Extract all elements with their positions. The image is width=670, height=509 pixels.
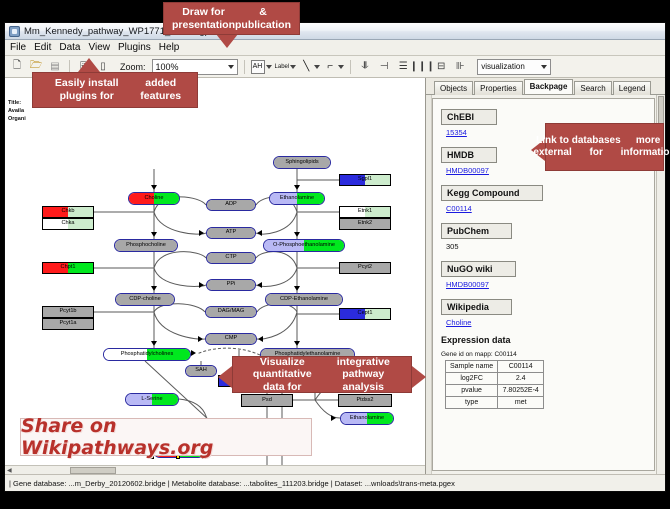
status-bar: | Gene database: ...m_Derby_20120602.bri… [5, 474, 665, 491]
pathway-node-ptdss2[interactable]: Ptdss2 [338, 394, 392, 407]
pathway-node-dag_mag[interactable]: DAG/MAG [205, 306, 257, 318]
line-tool[interactable]: ╲ [299, 60, 320, 74]
arrowhead-down [151, 341, 157, 346]
side-panel-tabs: Objects Properties Backpage Search Legen… [426, 78, 665, 95]
callout-visualize-pointer-right [412, 366, 426, 388]
pathway-node-sgpl1[interactable]: Sgpl1 [339, 174, 391, 186]
node-label: SAH [195, 368, 207, 374]
node-label: ATP [226, 230, 236, 236]
pathway-node-chka[interactable]: Chka [42, 218, 94, 230]
node-label: CTP [225, 255, 236, 261]
table-row: type met [446, 397, 544, 409]
node-label: ADP [225, 202, 237, 208]
expression-data-table: Sample name C00114 log2FC 2.4 pvalue 7.8… [445, 360, 544, 409]
node-label: Pcyt1a [59, 321, 76, 327]
tab-properties[interactable]: Properties [474, 81, 522, 95]
db-heading-hmdb: HMDB [441, 147, 497, 163]
new-file-icon[interactable]: 🗋 [9, 59, 25, 75]
pathway-node-chpt1[interactable]: Chpt1 [42, 262, 94, 274]
chevron-down-icon [314, 65, 320, 69]
visualization-combobox[interactable]: visualization [477, 59, 551, 75]
status-text: | Gene database: ...m_Derby_20120602.bri… [9, 479, 455, 488]
arrowhead-down [294, 185, 300, 190]
pathway-node-ppi[interactable]: PPi [206, 279, 256, 291]
label-icon: Label [275, 60, 290, 74]
canvas-horizontal-scrollbar[interactable]: ◀ [5, 465, 425, 474]
pathway-node-cdp_ethanolamine[interactable]: CDP-Ethanolamine [265, 293, 343, 306]
scrollbar-thumb[interactable] [70, 467, 116, 474]
callout-share: Share on Wikipathways.org [20, 418, 312, 456]
arrowhead-down [294, 341, 300, 346]
cell-key: pvalue [446, 385, 498, 397]
callout-plugins-pointer [78, 58, 100, 72]
connector-tool[interactable]: ⌐ [323, 60, 344, 74]
node-label: PPi [227, 282, 236, 288]
toolbar-separator [350, 60, 351, 74]
pathway-node-phosphocholine[interactable]: Phosphocholine [114, 239, 178, 252]
callout-visualize: Visualize quantitative data forintegrati… [232, 356, 412, 393]
pathway-node-l_serine_left[interactable]: L-Serine [125, 393, 179, 406]
cell-value: 7.80252E-4 [498, 385, 544, 397]
visualization-value: visualization [481, 62, 525, 71]
arrowhead-left [257, 230, 262, 236]
line-icon: ╲ [299, 60, 313, 74]
node-label: Phosphatidylcholines [121, 352, 174, 358]
tab-legend[interactable]: Legend [613, 81, 652, 95]
pathway-node-atp[interactable]: ATP [206, 227, 256, 239]
scroll-left-icon[interactable]: ◀ [5, 467, 14, 474]
cell-value: met [498, 397, 544, 409]
db-heading-kegg: Kegg Compound [441, 185, 543, 201]
chevron-down-icon [290, 65, 296, 69]
db-heading-wikipedia: Wikipedia [441, 299, 512, 315]
pathway-node-chkb[interactable]: Chkb [42, 206, 94, 218]
pathway-node-pcyt2[interactable]: Pcyt2 [339, 262, 391, 274]
db-heading-pubchem: PubChem [441, 223, 512, 239]
cell-key: log2FC [446, 373, 498, 385]
distribute-horizontal-icon[interactable]: ❙❙❙ [414, 59, 430, 75]
node-label: Ethanolamine [280, 196, 314, 202]
zoom-label: Zoom: [120, 62, 146, 72]
screenshot-root: Mm_Kennedy_pathway_WP1771_45176.gpml Fil… [0, 0, 670, 509]
node-label: L-Serine [141, 397, 162, 403]
arrowhead-down [151, 286, 157, 291]
db-link-nugo[interactable]: HMDB00097 [446, 280, 654, 289]
cell-value: 2.4 [498, 373, 544, 385]
pathway-node-ctp[interactable]: CTP [206, 252, 256, 264]
table-row: pvalue 7.80252E-4 [446, 385, 544, 397]
arrowhead-right [191, 350, 196, 356]
node-label: Ethanolamine [350, 416, 384, 422]
tab-search[interactable]: Search [574, 81, 611, 95]
pathway-node-cept1[interactable]: Cept1 [339, 308, 391, 320]
menu-item-file[interactable]: File [10, 42, 32, 53]
pathway-node-etnk2[interactable]: Etnk2 [339, 218, 391, 230]
chevron-down-icon [541, 65, 547, 69]
db-link-wikipedia[interactable]: Choline [446, 318, 654, 327]
arrowhead-left [257, 282, 262, 288]
arrowhead-down [294, 232, 300, 237]
pathway-node-cmp[interactable]: CMP [205, 333, 257, 345]
node-label: Choline [145, 196, 164, 202]
node-label: Cept1 [358, 311, 373, 317]
pathway-node-phosphatidylcholines[interactable]: Phosphatidylcholines [103, 348, 191, 361]
node-label: DAG/MAG [218, 309, 244, 315]
arrowhead-down [151, 185, 157, 190]
db-value-pubchem: 305 [446, 242, 654, 251]
pathway-node-ethanolamine_top[interactable]: Ethanolamine [269, 192, 325, 205]
table-row: log2FC 2.4 [446, 373, 544, 385]
group-icon[interactable]: ⊟ [433, 59, 449, 75]
node-label: Chka [61, 221, 74, 227]
title-bar: Mm_Kennedy_pathway_WP1771_45176.gpml [5, 23, 665, 40]
arrowhead-right [198, 336, 203, 342]
cell-key: type [446, 397, 498, 409]
pathway-node-sphingolipids[interactable]: Sphingolipids [273, 156, 331, 169]
node-label: Chkb [61, 209, 74, 215]
pathway-node-sah[interactable]: SAH [185, 365, 217, 377]
pathway-node-etnk1[interactable]: Etnk1 [339, 206, 391, 218]
ungroup-icon[interactable]: ⊪ [452, 59, 468, 75]
pathway-node-pcyt1b[interactable]: Pcyt1b [42, 306, 94, 318]
node-label: Ptdss2 [356, 398, 373, 404]
tab-objects[interactable]: Objects [434, 81, 473, 95]
arrowhead-down [151, 232, 157, 237]
node-label: Sgpl1 [358, 177, 372, 183]
pathway-node-adp[interactable]: ADP [206, 199, 256, 211]
chevron-down-icon [266, 65, 272, 69]
node-label: CDP-choline [129, 297, 160, 303]
pathway-node-o_phosphoethanolamine[interactable]: O-Phosphoethanolamine [263, 239, 345, 252]
callout-draw: Draw for presentation& publication [163, 2, 300, 35]
expression-data-heading: Expression data [441, 335, 654, 345]
node-label: CDP-Ethanolamine [280, 297, 328, 303]
callout-visualize-pointer [218, 366, 232, 388]
node-label: CMP [225, 336, 237, 342]
node-label: Phosphocholine [126, 243, 166, 249]
menu-bar: File Edit Data View Plugins Help [5, 40, 665, 56]
arrowhead-left [258, 336, 263, 342]
db-heading-nugo: NuGO wiki [441, 261, 516, 277]
node-label: Psd [262, 398, 272, 404]
cell-value: C00114 [498, 361, 544, 373]
pathway-node-choline_top[interactable]: Choline [128, 192, 180, 205]
db-link-kegg[interactable]: C00114 [446, 204, 654, 213]
arrowhead-right [199, 282, 204, 288]
table-row: Sample name C00114 [446, 361, 544, 373]
datanode-tool[interactable]: AH [251, 60, 272, 74]
pathway-node-pcyt1a[interactable]: Pcyt1a [42, 318, 94, 330]
callout-links: Link to externaldatabases formore inform… [545, 123, 664, 171]
db-heading-chebi: ChEBI [441, 109, 497, 125]
node-label: Pcyt1b [59, 309, 76, 315]
pathway-node-ethanolamine_bottom[interactable]: Ethanolamine [340, 412, 394, 425]
node-label: O-Phosphoethanolamine [273, 243, 335, 249]
menu-item-view[interactable]: View [88, 42, 116, 53]
align-top-icon[interactable]: ⥥ [357, 59, 373, 75]
app-icon [9, 26, 20, 37]
cell-key: Sample name [446, 361, 498, 373]
callout-plugins: Easily install plugins foradded features [32, 72, 198, 108]
chevron-down-icon [228, 65, 234, 69]
pathway-node-cdp_choline[interactable]: CDP-choline [115, 293, 175, 306]
menu-item-plugins[interactable]: Plugins [118, 42, 157, 53]
menu-item-edit[interactable]: Edit [34, 42, 57, 53]
arrowhead-right [199, 230, 204, 236]
node-label: Pcyt2 [358, 265, 372, 271]
arrowhead-down [294, 286, 300, 291]
align-left-icon[interactable]: ⊣ [376, 59, 392, 75]
chevron-down-icon [338, 65, 344, 69]
node-label: Etnk2 [358, 221, 372, 227]
pathway-node-psd[interactable]: Psd [241, 394, 293, 407]
tab-backpage[interactable]: Backpage [524, 79, 574, 94]
label-tool[interactable]: Label [275, 60, 297, 74]
gene-id-label: Gene id on mapp: C00114 [441, 351, 654, 358]
callout-draw-pointer [216, 34, 238, 48]
pathway-organism-label: Organi [8, 116, 26, 122]
menu-item-data[interactable]: Data [59, 42, 86, 53]
pathway-title-label: Title: [8, 100, 21, 106]
node-label: Sphingolipids [285, 160, 318, 166]
menu-item-help[interactable]: Help [159, 42, 186, 53]
pathway-availability-label: Availa [8, 108, 24, 114]
toolbar-separator [244, 60, 245, 74]
connector-icon: ⌐ [323, 60, 337, 74]
node-label: Etnk1 [358, 209, 372, 215]
arrowhead-right [331, 415, 336, 421]
zoom-value: 100% [156, 62, 179, 72]
gene-box-icon: AH [251, 60, 265, 74]
node-label: Chpt1 [61, 265, 76, 271]
